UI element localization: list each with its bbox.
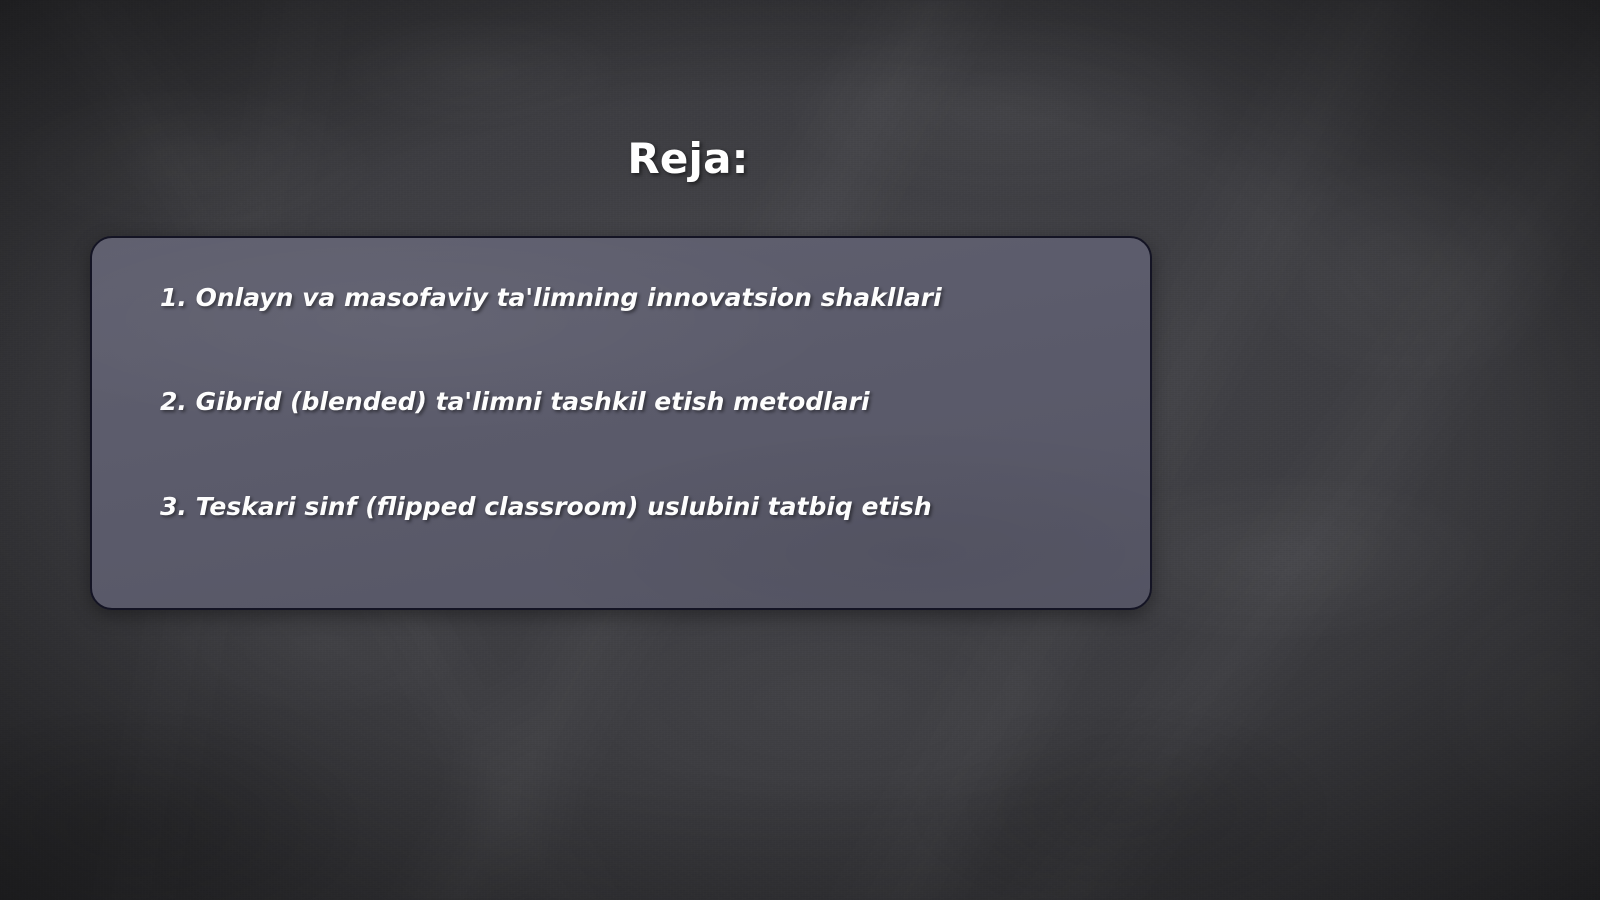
- slide-title-text: Reja:: [627, 134, 748, 183]
- reja-content-card: 1. Onlayn va masofaviy ta'limning innova…: [90, 236, 1152, 610]
- reja-list: 1. Onlayn va masofaviy ta'limning innova…: [160, 282, 1110, 522]
- list-item: 1. Onlayn va masofaviy ta'limning innova…: [160, 282, 1110, 313]
- presentation-slide: Reja: 1. Onlayn va masofaviy ta'limning …: [0, 0, 1600, 900]
- list-item: 3. Teskari sinf (flipped classroom) uslu…: [160, 491, 1110, 522]
- list-item: 2. Gibrid (blended) ta'limni tashkil eti…: [160, 386, 1110, 417]
- slide-title: Reja:: [0, 134, 1600, 183]
